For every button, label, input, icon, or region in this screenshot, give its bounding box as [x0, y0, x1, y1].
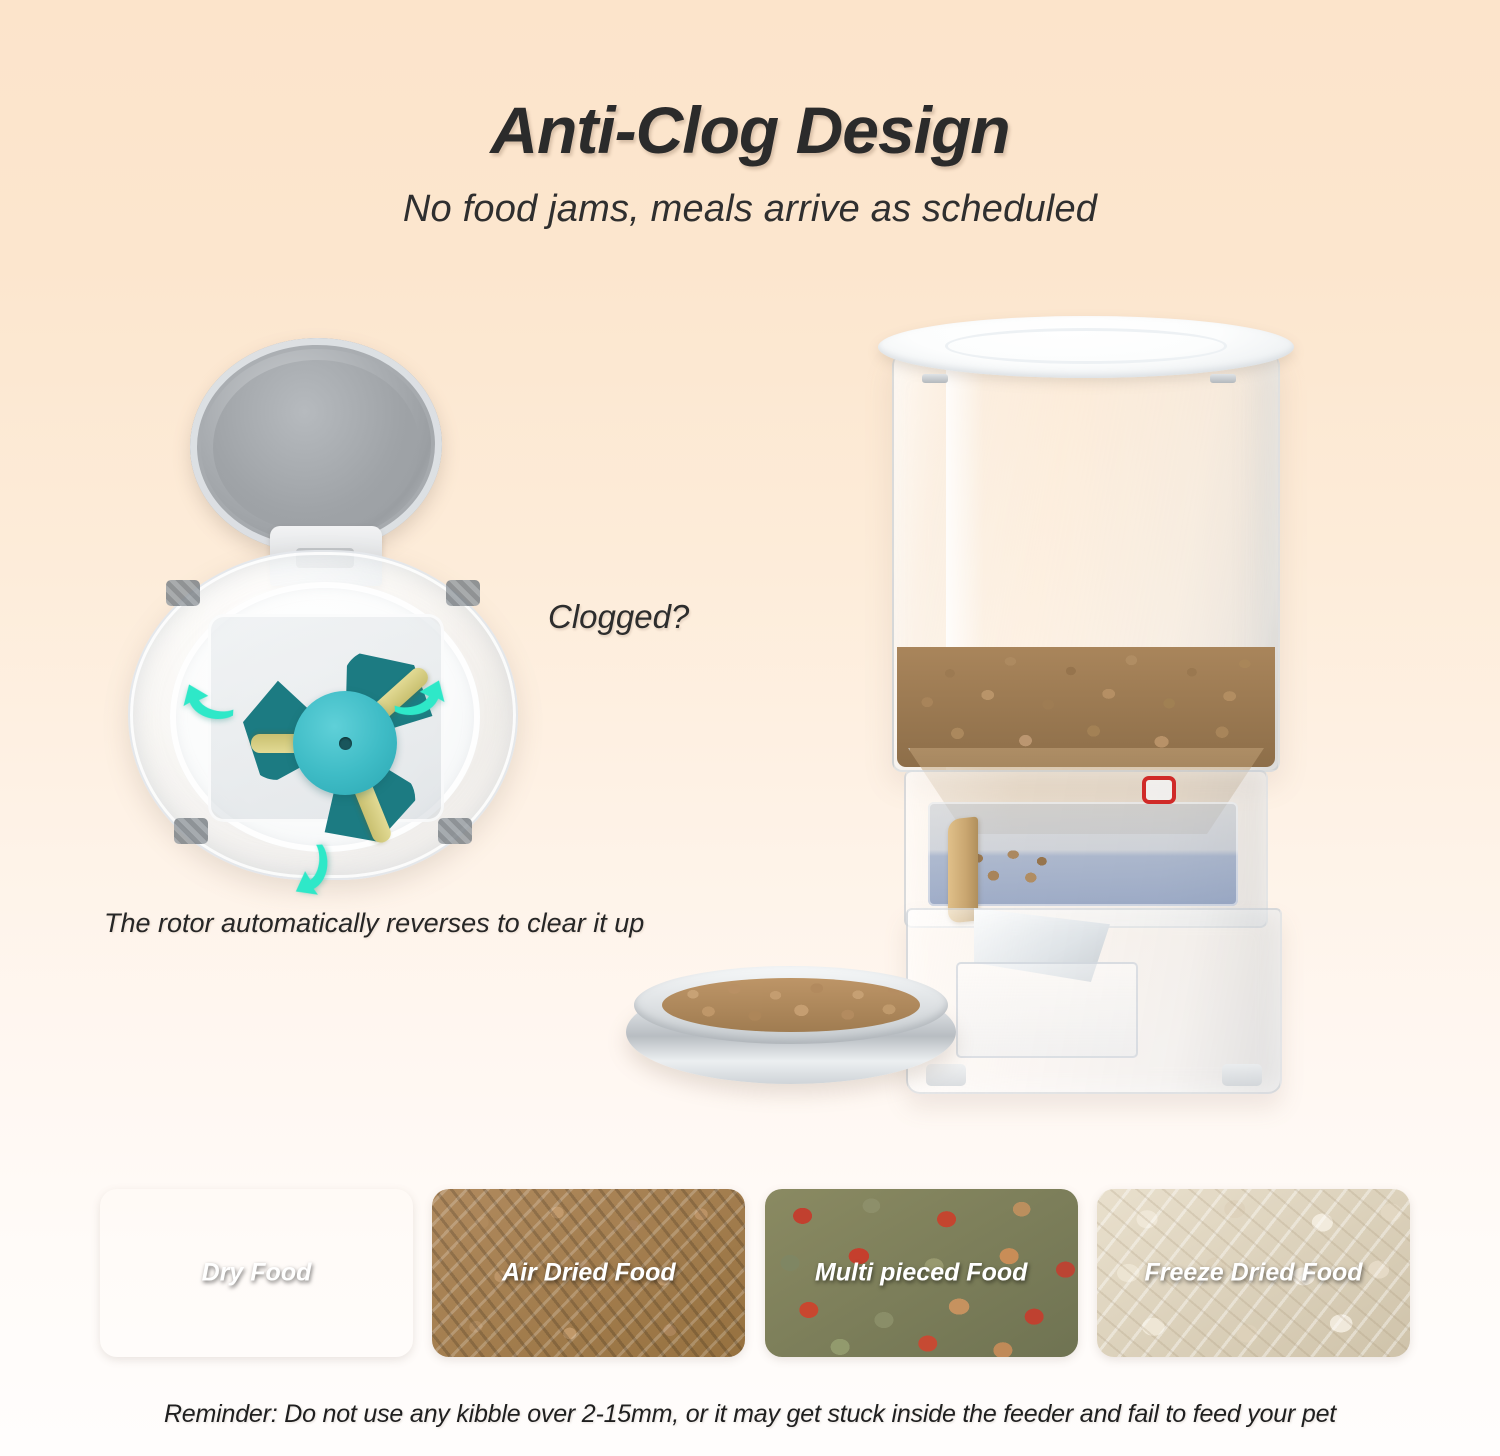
reverse-arrow-icon — [282, 838, 336, 898]
food-hopper — [892, 352, 1280, 772]
dispensing-mechanism — [904, 770, 1268, 928]
hero-header: Anti-Clog Design No food jams, meals arr… — [0, 92, 1500, 231]
reminder-note: Reminder: Do not use any kibble over 2-1… — [0, 1400, 1500, 1429]
rotor-hub — [293, 691, 397, 795]
lid-latch-icon — [922, 374, 948, 383]
food-type-label: Freeze Dried Food — [1097, 1259, 1410, 1288]
housing-tab — [446, 580, 480, 606]
food-type-label: Dry Food — [100, 1259, 413, 1288]
rotor-lid-icon — [186, 334, 445, 558]
feeder-product-image — [620, 300, 1320, 1130]
food-type-gallery: Dry Food Air Dried Food Multi pieced Foo… — [100, 1189, 1410, 1357]
food-type-label: Air Dried Food — [432, 1259, 745, 1288]
base-foot — [1222, 1064, 1262, 1086]
food-type-label: Multi pieced Food — [765, 1259, 1078, 1288]
food-type-card: Multi pieced Food — [765, 1189, 1078, 1357]
page-subtitle: No food jams, meals arrive as scheduled — [0, 188, 1500, 231]
food-type-card: Air Dried Food — [432, 1189, 745, 1357]
housing-tab — [174, 818, 208, 844]
bowl-kibble — [662, 978, 920, 1032]
housing-tab — [438, 818, 472, 844]
page-title: Anti-Clog Design — [0, 92, 1500, 168]
food-bowl — [626, 966, 956, 1090]
feeder-lid — [878, 316, 1294, 378]
housing-tab — [166, 580, 200, 606]
base-tray — [956, 962, 1138, 1058]
feeder-base — [906, 908, 1282, 1094]
reverse-arrow-icon — [180, 672, 241, 728]
food-type-card: Dry Food — [100, 1189, 413, 1357]
food-type-card: Freeze Dried Food — [1097, 1189, 1410, 1357]
indicator-window-icon — [1142, 776, 1176, 804]
rotor-housing — [128, 550, 518, 880]
reverse-arrow-icon — [386, 668, 447, 724]
rotor-caption: The rotor automatically reverses to clea… — [104, 908, 644, 939]
lid-latch-icon — [1210, 374, 1236, 383]
